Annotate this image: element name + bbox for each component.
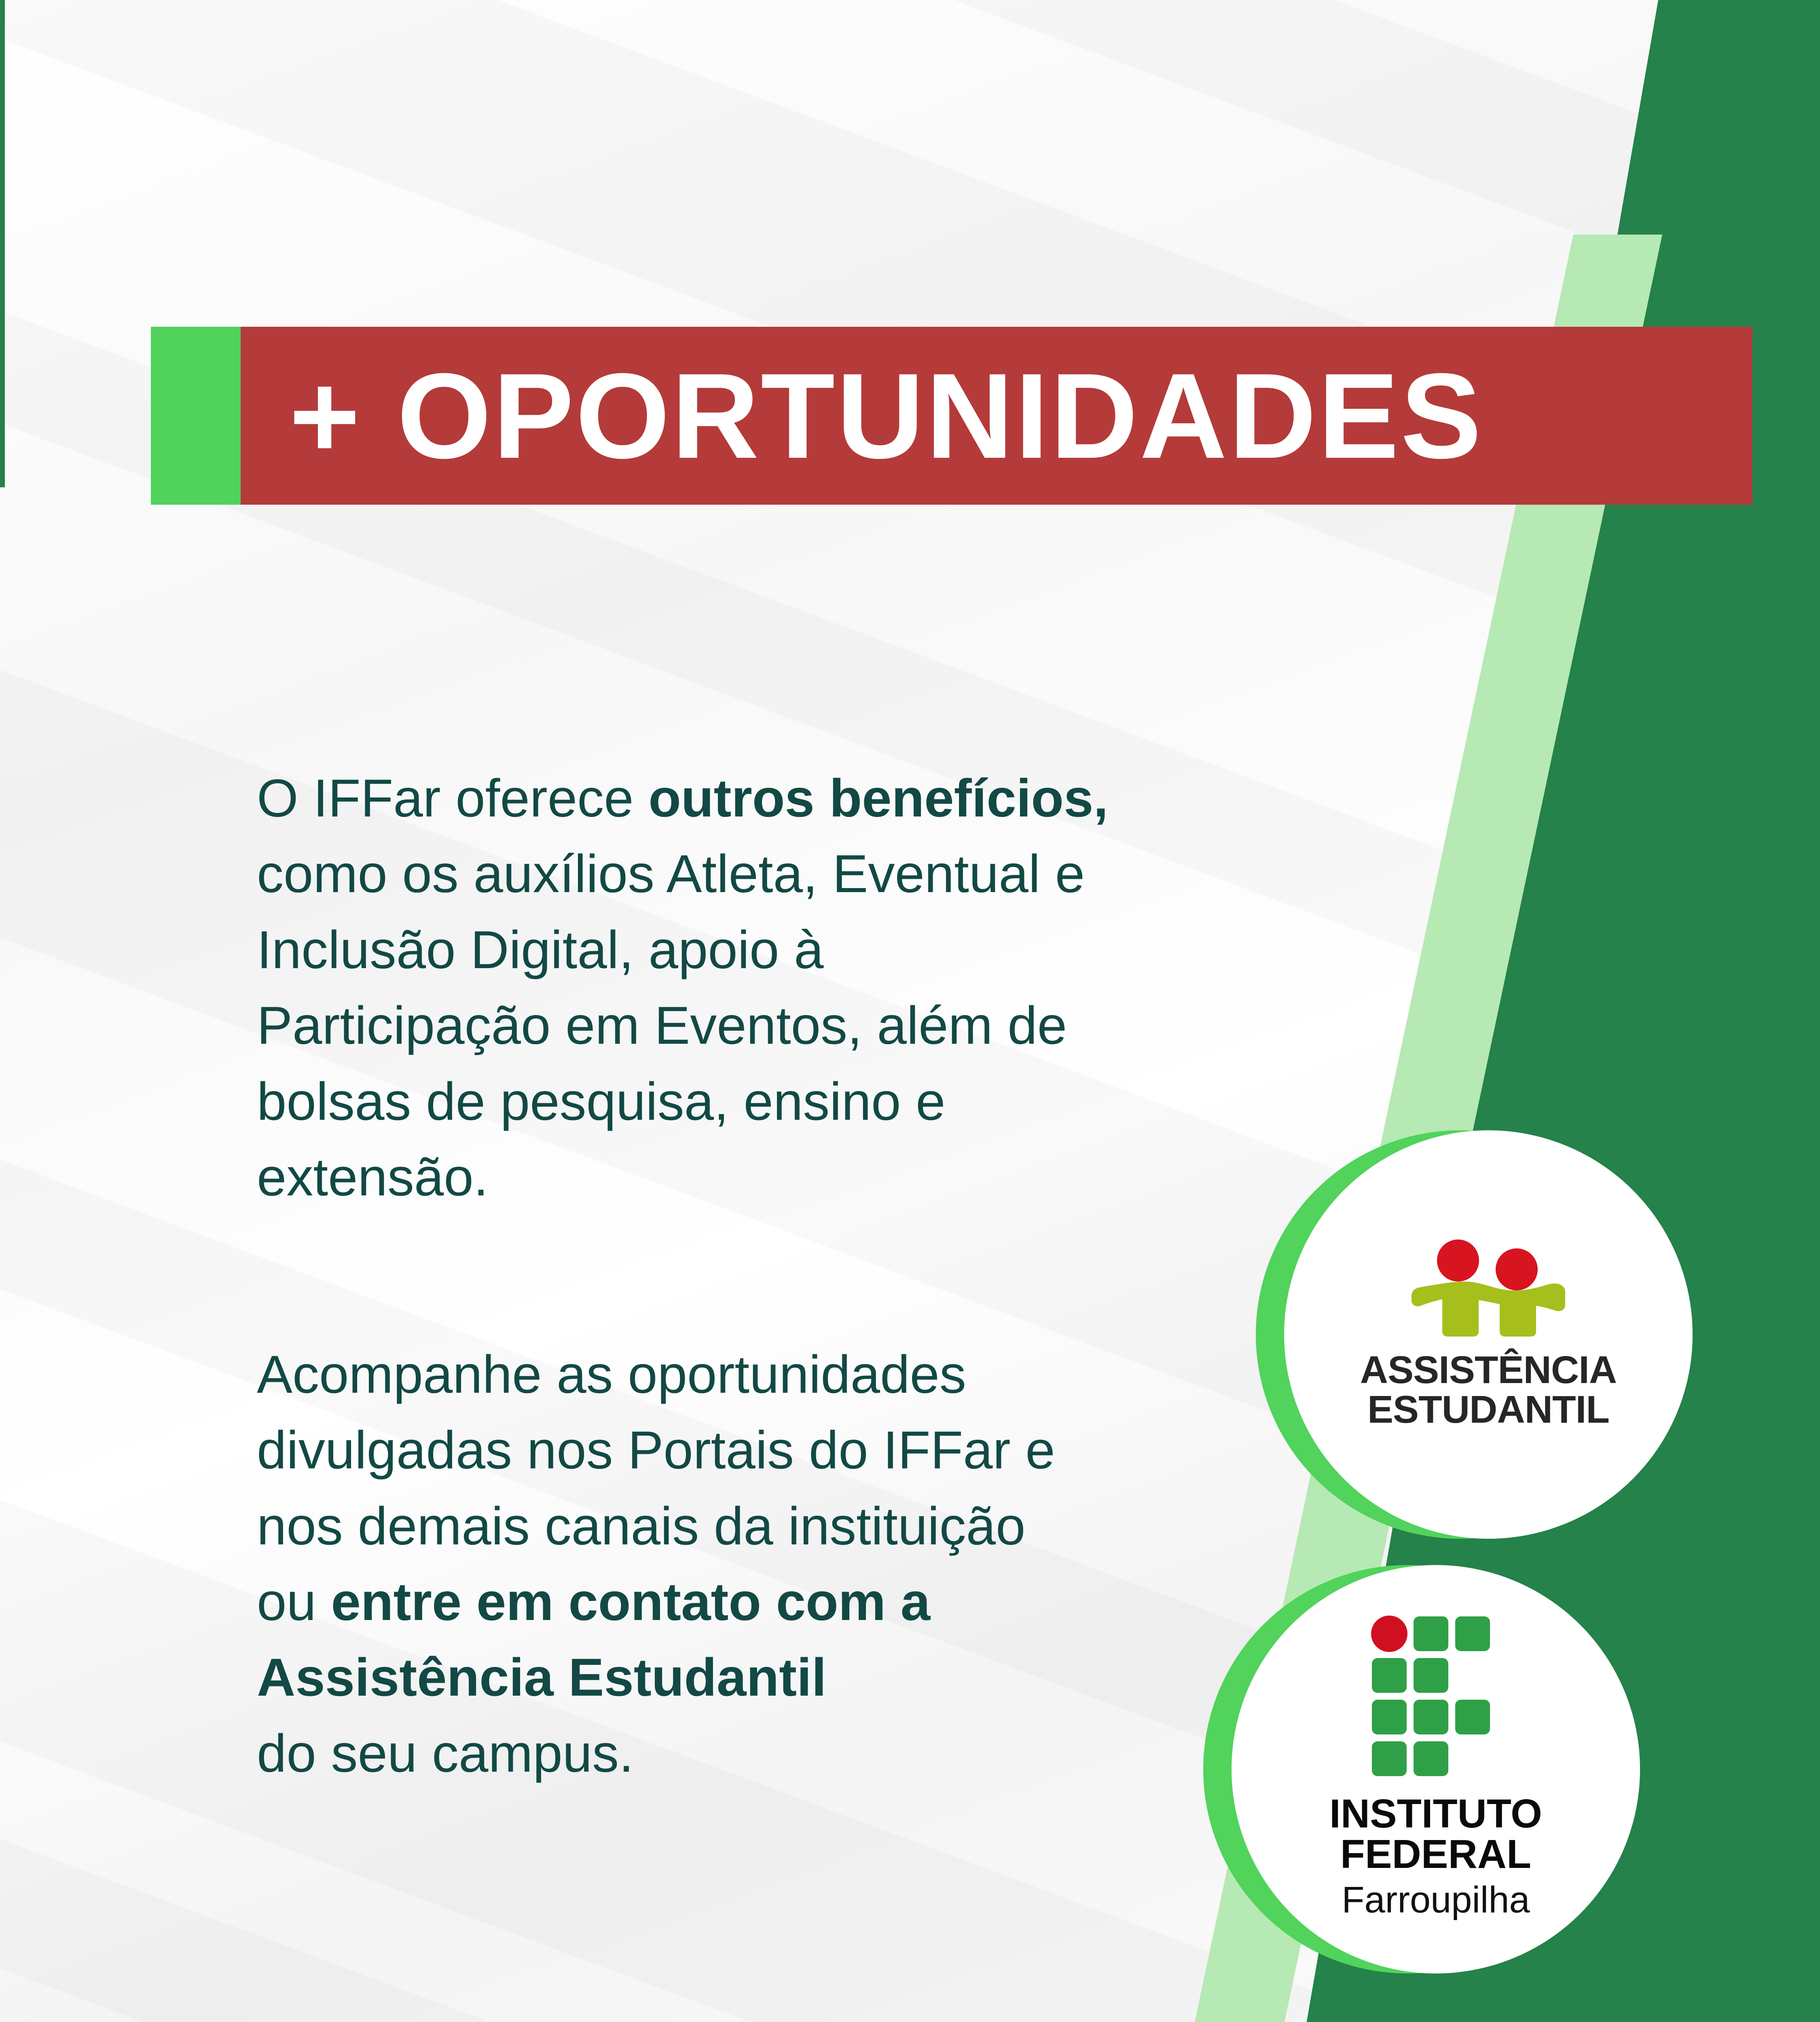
paragraph-two: Acompanhe as oportunidades divulgadas no… (257, 1337, 1207, 1791)
poster-canvas: + OPORTUNIDADES O IFFar oferece outros b… (0, 0, 1820, 2022)
line-text: O IFFar oferece (257, 768, 648, 828)
paragraph-one: O IFFar oferece outros benefícios, como … (257, 760, 1207, 1215)
left-edge-accent-bar (0, 0, 5, 487)
assistencia-label-line1: ASSISTÊNCIA (1360, 1350, 1617, 1390)
iffar-label-line1: INSTITUTO (1329, 1794, 1542, 1834)
instituto-federal-grid-icon (1371, 1616, 1500, 1777)
paragraph-line: nos demais canais da instituição (257, 1488, 1207, 1564)
paragraph-line: extensão. (257, 1139, 1207, 1215)
paragraph-line: O IFFar oferece outros benefícios, (257, 760, 1207, 836)
paragraph-line: Acompanhe as oportunidades (257, 1337, 1207, 1412)
paragraph-line: Participação em Eventos, além de (257, 988, 1207, 1063)
assistencia-label-line2: ESTUDANTIL (1367, 1390, 1609, 1430)
line-text: ou (257, 1572, 331, 1631)
line-text-bold: outros benefícios, (648, 768, 1108, 828)
paragraph-line: bolsas de pesquisa, ensino e (257, 1064, 1207, 1139)
assistencia-estudantil-badge[interactable]: ASSISTÊNCIA ESTUDANTIL (1284, 1130, 1693, 1539)
body-copy: O IFFar oferece outros benefícios, como … (257, 760, 1207, 1791)
banner-red-body: + OPORTUNIDADES (241, 327, 1752, 505)
page-title: + OPORTUNIDADES (289, 355, 1483, 476)
banner-green-accent (151, 327, 241, 505)
paragraph-line: Inclusão Digital, apoio à (257, 912, 1207, 988)
paragraph-line: Assistência Estudantil (257, 1639, 1207, 1715)
paragraph-line: do seu campus. (257, 1715, 1207, 1791)
iffar-campus-label: Farroupilha (1342, 1877, 1530, 1923)
two-people-icon (1395, 1239, 1581, 1337)
instituto-federal-farroupilha-badge[interactable]: INSTITUTO FEDERAL Farroupilha (1232, 1565, 1640, 1973)
paragraph-line: ou entre em contato com a (257, 1564, 1207, 1639)
paragraph-line: divulgadas nos Portais do IFFar e (257, 1412, 1207, 1488)
header-banner: + OPORTUNIDADES (151, 327, 1752, 505)
iffar-label-line2: FEDERAL (1340, 1834, 1531, 1874)
line-text-bold: Assistência Estudantil (257, 1648, 826, 1707)
line-text-bold: entre em contato com a (331, 1572, 931, 1631)
paragraph-line: como os auxílios Atleta, Eventual e (257, 836, 1207, 912)
